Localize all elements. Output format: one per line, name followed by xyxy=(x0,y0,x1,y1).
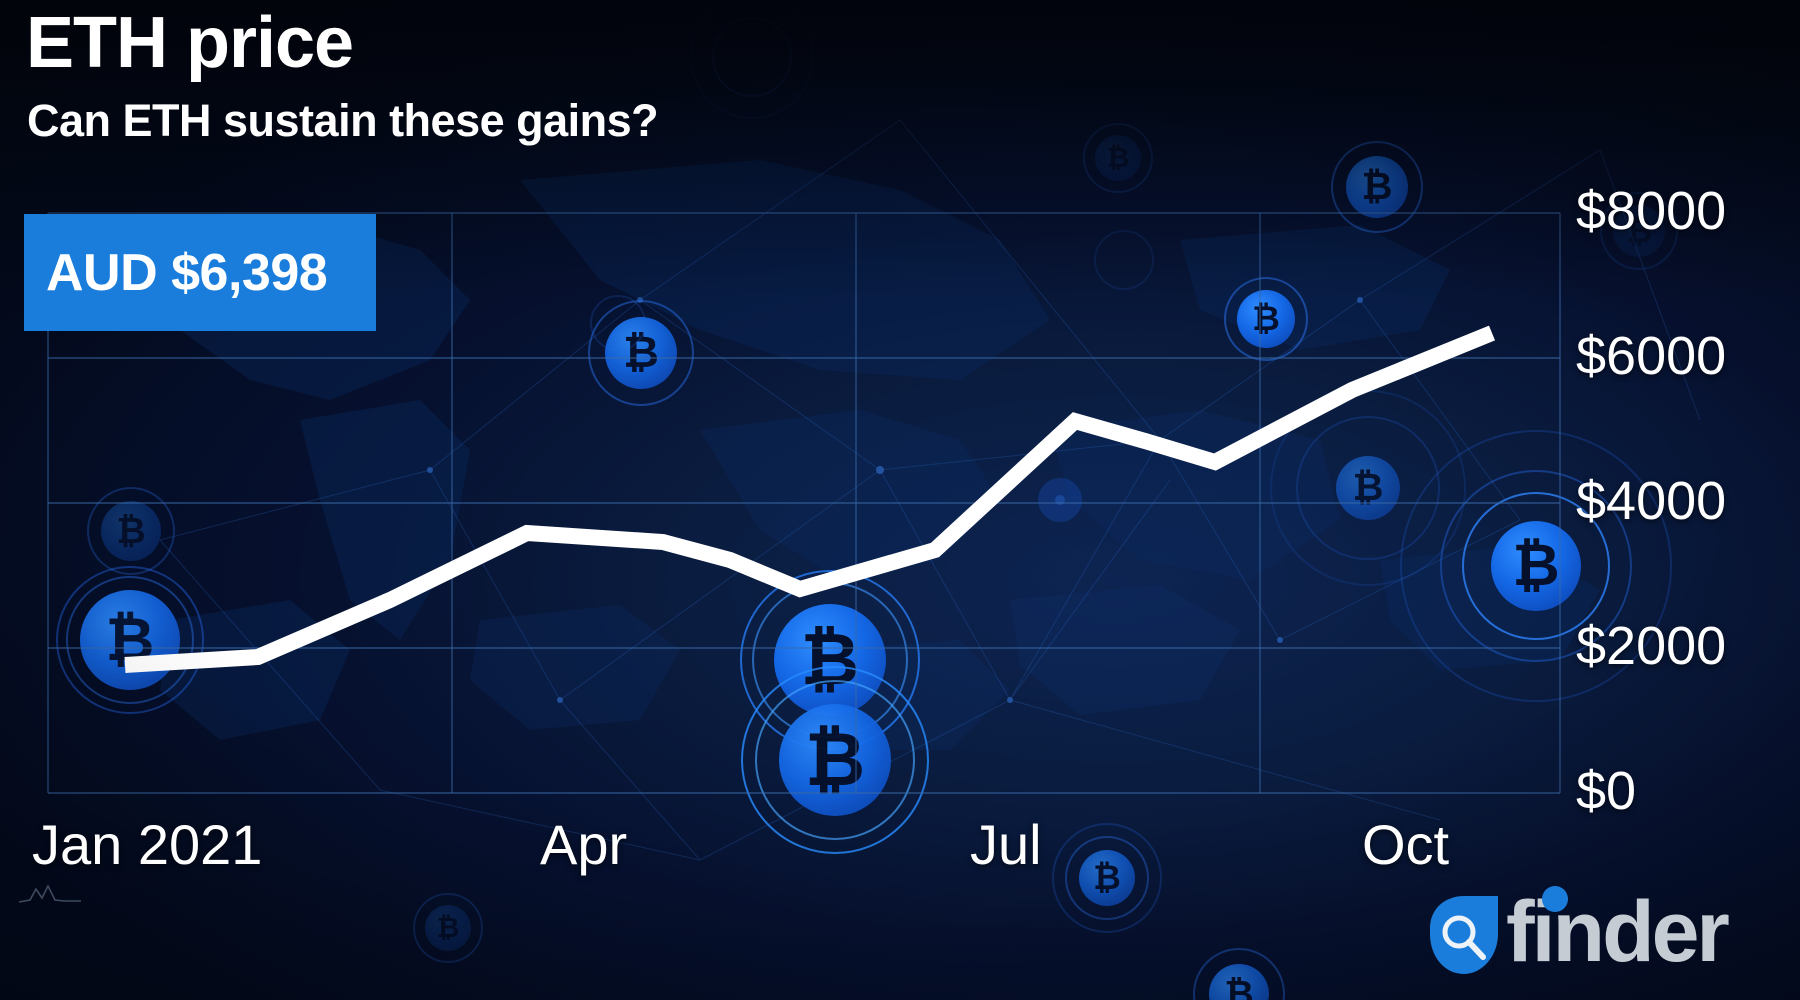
infographic-canvas: ₿ ₿ ₿ ₿ ₿ ₿ ₿ ₿ xyxy=(0,0,1800,1000)
x-axis-label-jan-2021: Jan 2021 xyxy=(32,812,262,877)
page-title: ETH price xyxy=(26,6,353,82)
x-axis-label-oct: Oct xyxy=(1362,812,1449,877)
finder-logo-dot xyxy=(1542,886,1568,912)
y-axis-label-4000: $4000 xyxy=(1576,470,1726,532)
y-axis-label-0: $0 xyxy=(1576,760,1636,822)
current-price-value: AUD $6,398 xyxy=(46,243,327,303)
y-axis-label-2000: $2000 xyxy=(1576,615,1726,677)
finder-wordmark: finder xyxy=(1506,889,1727,975)
current-price-badge: AUD $6,398 xyxy=(24,214,376,331)
finder-logo[interactable]: finder xyxy=(1424,888,1727,984)
price-line-series xyxy=(125,333,1492,665)
sparkline-watermark-icon xyxy=(18,880,82,906)
y-axis-label-8000: $8000 xyxy=(1576,180,1726,242)
price-line-chart xyxy=(0,0,1800,1000)
x-axis-label-jul: Jul xyxy=(970,812,1042,877)
x-axis-label-apr: Apr xyxy=(540,812,627,877)
search-icon xyxy=(1424,894,1504,978)
finder-logo-mark xyxy=(1424,894,1504,978)
y-axis-label-6000: $6000 xyxy=(1576,325,1726,387)
page-subtitle: Can ETH sustain these gains? xyxy=(27,96,658,146)
